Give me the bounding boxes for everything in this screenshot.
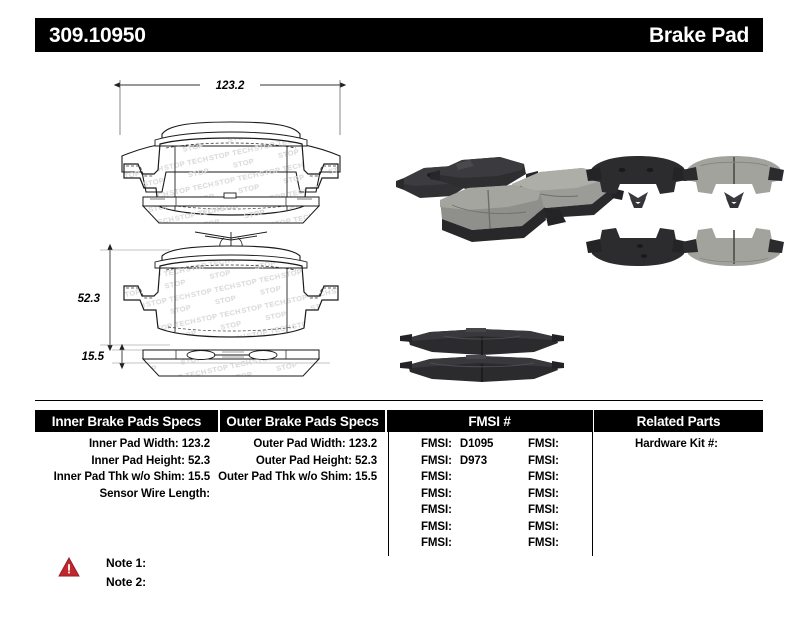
pad-drawing-side-upper <box>143 193 319 223</box>
fmsi-label: FMSI: <box>528 469 559 486</box>
spec-value: 123.2 <box>182 438 210 450</box>
related-part-row: Hardware Kit #: <box>600 436 771 453</box>
column-header-inner: Inner Brake Pads Specs <box>35 410 218 432</box>
fmsi-row: FMSI: <box>528 436 567 453</box>
fmsi-subcolumn-b: FMSI: FMSI: FMSI: FMSI: <box>528 436 567 552</box>
fmsi-label: FMSI: <box>421 469 452 486</box>
pad-drawing-bottom <box>100 246 338 345</box>
title-bar: 309.10950 Brake Pad <box>35 18 763 52</box>
fmsi-label: FMSI: <box>421 486 452 503</box>
spec-label: Inner Pad Height: <box>91 455 185 467</box>
related-part-label: Hardware Kit #: <box>635 438 718 450</box>
fmsi-label: FMSI: <box>528 453 559 470</box>
spec-label: Inner Pad Thk w/o Shim: <box>54 471 185 483</box>
fmsi-row: FMSI: <box>528 535 567 552</box>
fmsi-row: FMSI: <box>528 502 567 519</box>
fmsi-row: FMSI: <box>528 519 567 536</box>
fmsi-label: FMSI: <box>421 502 452 519</box>
spec-value: 15.5 <box>355 471 377 483</box>
dimension-thickness-label: 15.5 <box>82 351 105 363</box>
fmsi-row: FMSI: D1095 <box>421 436 493 453</box>
spec-row: Inner Pad Height: 52.3 <box>35 453 218 470</box>
warning-triangle-icon <box>58 557 80 577</box>
fmsi-row: FMSI: D973 <box>421 453 493 470</box>
spec-row: Outer Pad Height: 52.3 <box>218 453 385 470</box>
photo-pad-edge-pair <box>400 328 564 382</box>
fmsi-label: FMSI: <box>421 519 452 536</box>
fmsi-row: FMSI: <box>421 469 493 486</box>
inner-specs-column: Inner Pad Width: 123.2 Inner Pad Height:… <box>35 436 218 502</box>
product-spec-sheet: 309.10950 Brake Pad STOP TECH STOP TECH <box>0 0 800 619</box>
spec-value: 123.2 <box>349 438 377 450</box>
fmsi-row: FMSI: <box>421 519 493 536</box>
note-line: Note 1: <box>106 554 146 573</box>
fmsi-label: FMSI: <box>528 519 559 536</box>
table-header-row: Inner Brake Pads Specs Outer Brake Pads … <box>35 410 763 432</box>
spec-row: Sensor Wire Length: <box>35 486 218 503</box>
dimension-width-label: 123.2 <box>216 80 245 92</box>
related-parts-column: Hardware Kit #: <box>600 436 771 453</box>
table-top-rule <box>35 400 763 401</box>
fmsi-row: FMSI: <box>528 469 567 486</box>
spec-value: 15.5 <box>188 471 210 483</box>
spec-value: 52.3 <box>355 455 377 467</box>
fmsi-row: FMSI: <box>421 486 493 503</box>
spec-value: 52.3 <box>188 455 210 467</box>
spec-label: Inner Pad Width: <box>89 438 179 450</box>
notes-section: Note 1: Note 2: <box>58 554 146 592</box>
note-line: Note 2: <box>106 573 146 592</box>
part-number: 309.10950 <box>49 25 146 46</box>
column-header-related-parts: Related Parts <box>592 410 763 432</box>
spec-row: Outer Pad Thk w/o Shim: 15.5 <box>218 469 385 486</box>
fmsi-label: FMSI: <box>528 486 559 503</box>
fmsi-row: FMSI: <box>421 502 493 519</box>
spec-label: Outer Pad Width: <box>253 438 345 450</box>
spec-row: Inner Pad Thk w/o Shim: 15.5 <box>35 469 218 486</box>
fmsi-row: FMSI: <box>528 486 567 503</box>
spec-label: Outer Pad Height: <box>256 455 352 467</box>
spec-row: Inner Pad Width: 123.2 <box>35 436 218 453</box>
fmsi-label: FMSI: <box>421 453 452 470</box>
fmsi-label: FMSI: <box>421 436 452 453</box>
fmsi-label: FMSI: <box>421 535 452 552</box>
fmsi-label: FMSI: <box>528 535 559 552</box>
technical-drawings-svg: STOP TECH STOP TECH <box>0 60 800 395</box>
fmsi-row: FMSI: <box>421 535 493 552</box>
fmsi-row: FMSI: <box>528 453 567 470</box>
note-lines: Note 1: Note 2: <box>106 554 146 592</box>
fmsi-value: D1095 <box>455 436 493 453</box>
spec-label: Sensor Wire Length: <box>100 488 210 500</box>
outer-specs-column: Outer Pad Width: 123.2 Outer Pad Height:… <box>218 436 385 486</box>
spec-label: Outer Pad Thk w/o Shim: <box>218 471 352 483</box>
fmsi-subcolumn-a: FMSI: D1095 FMSI: D973 FMSI: FMSI: <box>421 436 493 552</box>
table-body: Inner Pad Width: 123.2 Inner Pad Height:… <box>35 436 763 556</box>
fmsi-label: FMSI: <box>528 502 559 519</box>
photo-pad-quad-set <box>586 156 784 266</box>
fmsi-label: FMSI: <box>528 436 559 453</box>
pad-drawing-side-lower <box>112 350 330 376</box>
spec-row: Outer Pad Width: 123.2 <box>218 436 385 453</box>
column-header-outer: Outer Brake Pads Specs <box>218 410 385 432</box>
illustration-area: STOP TECH STOP TECH <box>0 60 800 395</box>
dimension-height-label: 52.3 <box>78 293 101 305</box>
column-header-fmsi: FMSI # <box>385 410 592 432</box>
fmsi-value: D973 <box>455 453 487 470</box>
product-type: Brake Pad <box>649 25 749 46</box>
